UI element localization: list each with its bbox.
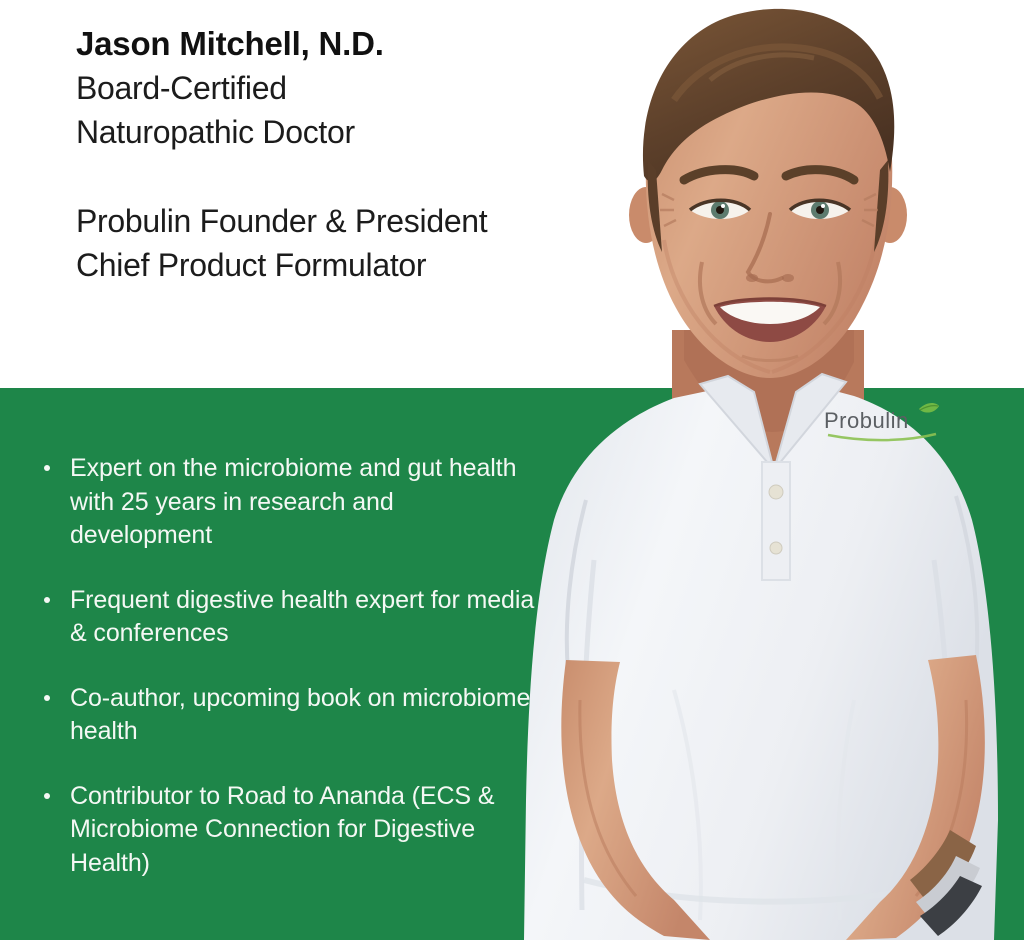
list-item: Frequent digestive health expert for med…: [38, 584, 538, 651]
speaker-name: Jason Mitchell, N.D.: [76, 22, 616, 66]
bullet-dot-icon: [44, 597, 50, 603]
bullet-dot-icon: [44, 793, 50, 799]
speaker-bio-slide: Probulin Jason Mitchell, N.D. Board-Cert…: [0, 0, 1024, 940]
speaker-header-text: Jason Mitchell, N.D. Board-Certified Nat…: [76, 22, 616, 154]
bullet-text: Expert on the microbiome and gut health …: [70, 454, 516, 549]
bullet-dot-icon: [44, 465, 50, 471]
credentials-bullet-list: Expert on the microbiome and gut health …: [38, 452, 538, 880]
role-line-2: Chief Product Formulator: [76, 243, 636, 287]
credential-line-2: Naturopathic Doctor: [76, 110, 616, 154]
list-item: Co-author, upcoming book on microbiome h…: [38, 682, 538, 749]
speaker-role-text: Probulin Founder & President Chief Produ…: [76, 199, 636, 287]
bullet-dot-icon: [44, 695, 50, 701]
bullet-text: Co-author, upcoming book on microbiome h…: [70, 684, 530, 746]
bullet-text: Frequent digestive health expert for med…: [70, 586, 534, 648]
bullet-text: Contributor to Road to Ananda (ECS & Mic…: [70, 782, 494, 877]
svg-text:Probulin: Probulin: [824, 408, 909, 433]
role-line-1: Probulin Founder & President: [76, 199, 636, 243]
credential-line-1: Board-Certified: [76, 66, 616, 110]
list-item: Expert on the microbiome and gut health …: [38, 452, 538, 553]
list-item: Contributor to Road to Ananda (ECS & Mic…: [38, 780, 538, 881]
